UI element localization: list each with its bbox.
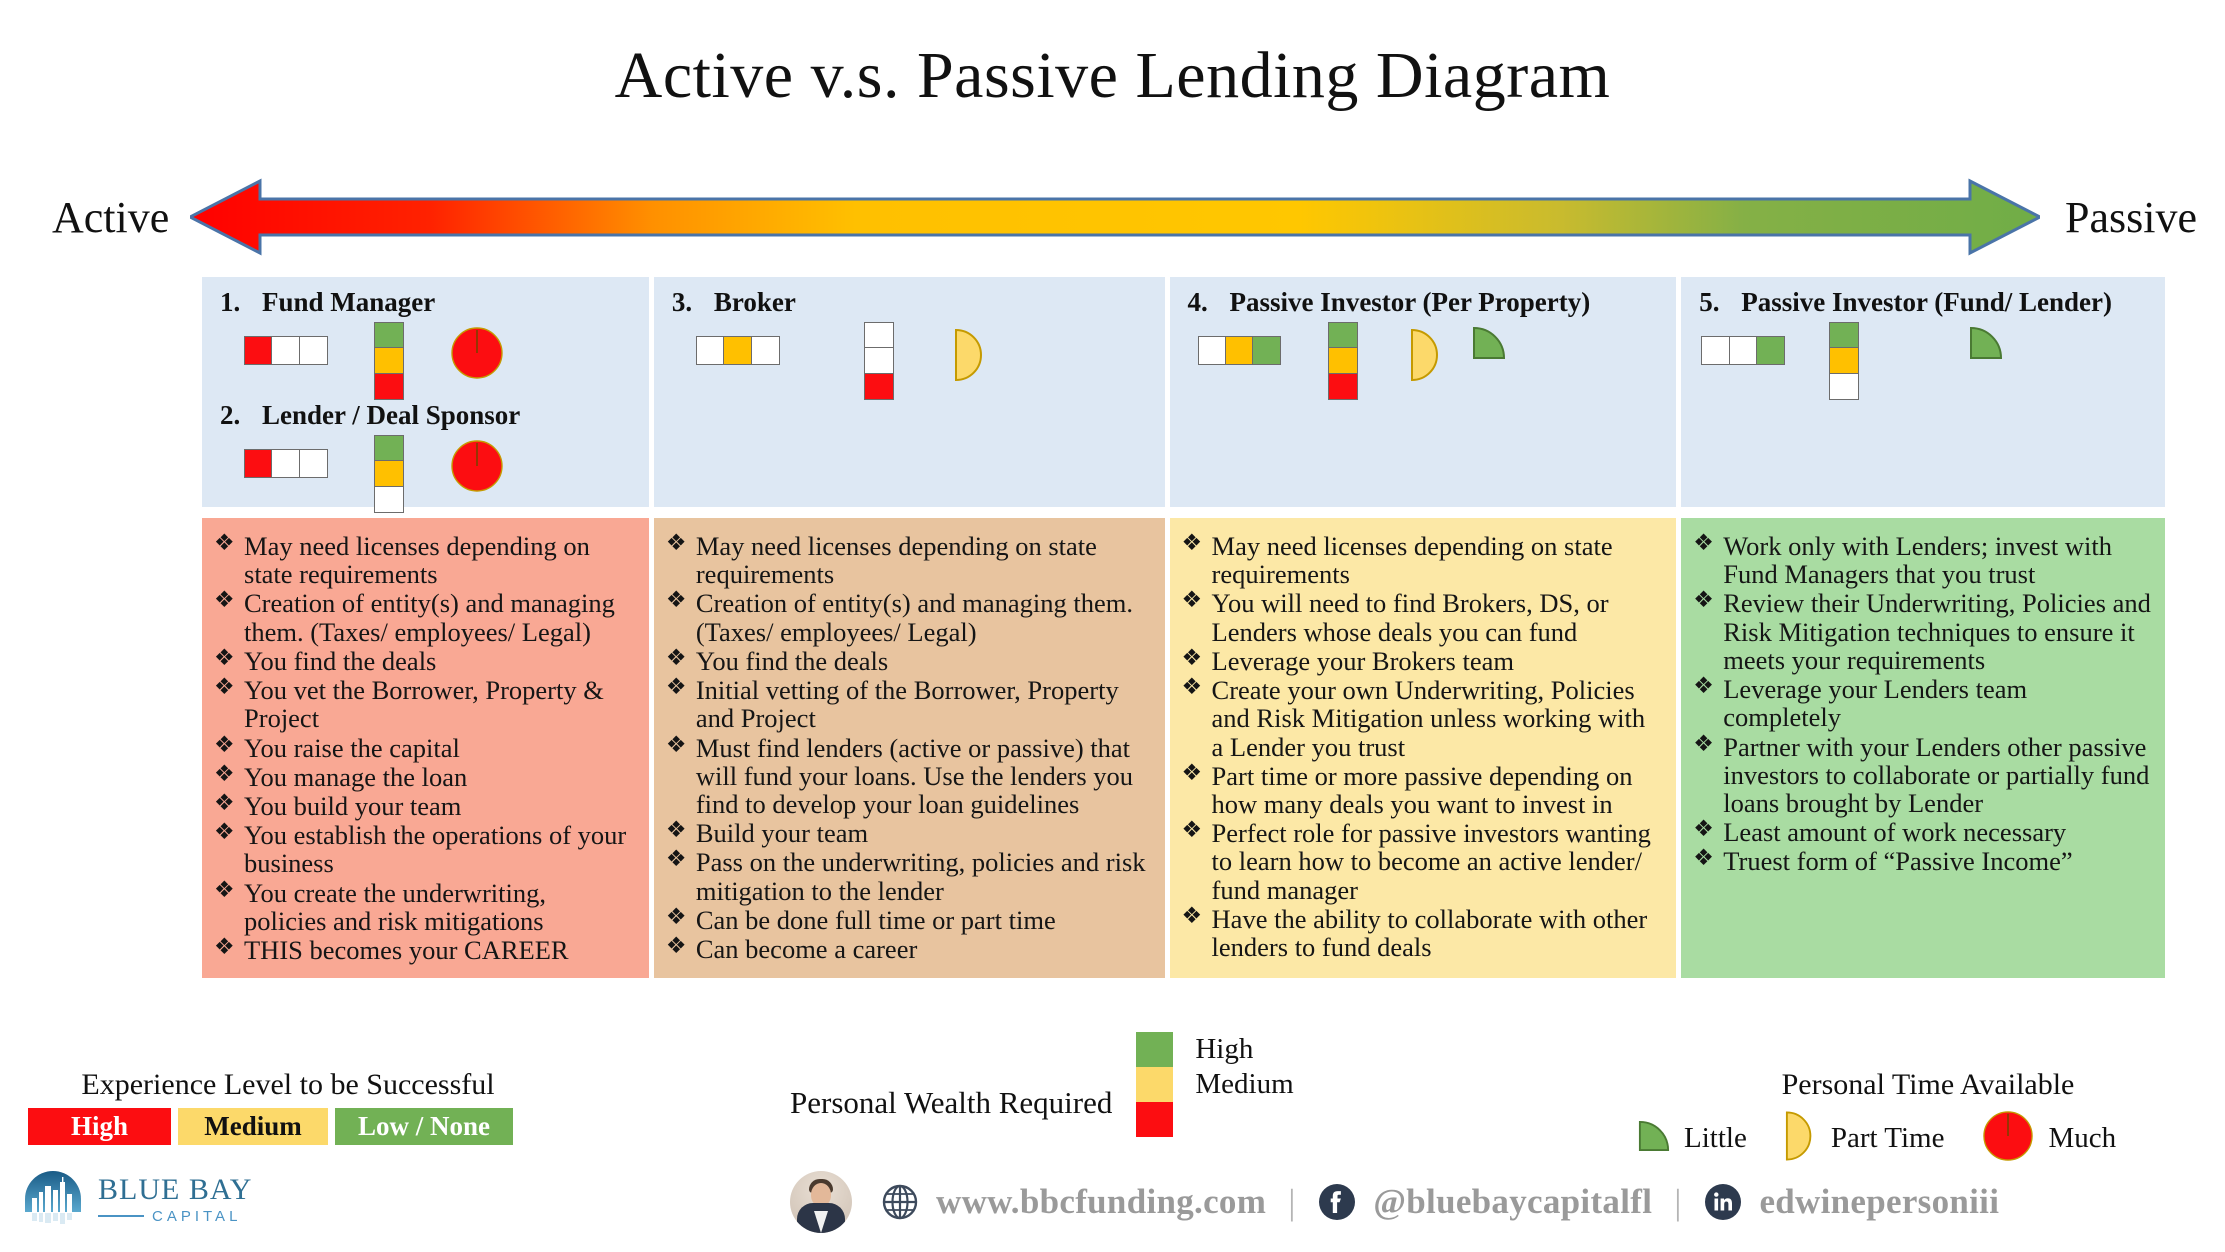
personal-time-part-icon bbox=[1410, 328, 1444, 382]
role-header-passive-investor-fund-lender: 5. Passive Investor (Fund/ Lender) bbox=[1681, 287, 2165, 318]
list-item: You create the underwriting, policies an… bbox=[212, 879, 635, 935]
personal-time-little-icon bbox=[1472, 326, 1506, 360]
list-item: Can become a career bbox=[664, 935, 1151, 963]
facebook-icon bbox=[1317, 1182, 1357, 1222]
list-item: Leverage your Lenders team completely bbox=[1691, 675, 2151, 731]
detail-panel-passive-investor-fund-lender: Work only with Lenders; invest with Fund… bbox=[1681, 518, 2165, 978]
role-number: 1. bbox=[220, 287, 262, 318]
logo-line-2: CAPITAL bbox=[152, 1209, 241, 1224]
list-item: You establish the operations of your bus… bbox=[212, 821, 635, 877]
website-link[interactable]: www.bbcfunding.com bbox=[936, 1182, 1266, 1222]
list-item: You find the deals bbox=[212, 647, 635, 675]
legend-wealth-row-low bbox=[1136, 1102, 1293, 1137]
logo-line-1: BLUE BAY bbox=[98, 1173, 252, 1206]
full-circle-icon bbox=[1982, 1110, 2034, 1167]
role-panel-column-4: 5. Passive Investor (Fund/ Lender) bbox=[1681, 277, 2165, 507]
list-item: Initial vetting of the Borrower, Propert… bbox=[664, 676, 1151, 732]
role-icons-broker bbox=[654, 318, 1165, 408]
role-icons-passive-investor-fund-lender bbox=[1681, 318, 2165, 408]
facebook-handle[interactable]: @bluebaycapitalfl bbox=[1373, 1182, 1652, 1222]
legend-time-item-little: Little bbox=[1638, 1120, 1747, 1157]
list-item: Can be done full time or part time bbox=[664, 906, 1151, 934]
role-panels-row: 1. Fund Manager bbox=[202, 277, 2165, 507]
role-name-label: Fund Manager bbox=[262, 287, 435, 318]
logo-line-2-row: CAPITAL bbox=[98, 1209, 252, 1224]
legend-swatch-yellow bbox=[1136, 1067, 1173, 1102]
gradient-double-arrow-icon bbox=[190, 178, 2040, 256]
list-item: Part time or more passive depending on h… bbox=[1180, 762, 1663, 818]
bullet-list: Work only with Lenders; invest with Fund… bbox=[1691, 532, 2151, 876]
linkedin-handle[interactable]: edwinepersoniii bbox=[1759, 1182, 1999, 1222]
role-name-label: Passive Investor (Per Property) bbox=[1230, 287, 1591, 318]
role-number: 5. bbox=[1699, 287, 1741, 318]
experience-level-icon bbox=[696, 336, 780, 365]
legend-label-high: High bbox=[1195, 1033, 1253, 1066]
personal-time-little-icon bbox=[1969, 326, 2003, 360]
role-icons-passive-investor-per-property bbox=[1170, 318, 1677, 408]
role-panel-column-1: 1. Fund Manager bbox=[202, 277, 649, 507]
list-item: Create your own Underwriting, Policies a… bbox=[1180, 676, 1663, 761]
legend-time-items: Little Part Time Much bbox=[1638, 1110, 2218, 1167]
skyline-circle-icon bbox=[22, 1168, 84, 1230]
active-passive-spectrum: Active Passive bbox=[0, 178, 2225, 258]
list-item: Perfect role for passive investors wanti… bbox=[1180, 819, 1663, 904]
spectrum-label-passive: Passive bbox=[2065, 192, 2197, 243]
list-item: May need licenses depending on state req… bbox=[664, 532, 1151, 588]
bullet-list: May need licenses depending on state req… bbox=[212, 532, 635, 964]
avatar bbox=[790, 1171, 852, 1233]
list-item: Creation of entity(s) and managing them.… bbox=[664, 589, 1151, 645]
diagram-page: Active v.s. Passive Lending Diagram Acti… bbox=[0, 0, 2225, 1252]
list-item: Must find lenders (active or passive) th… bbox=[664, 734, 1151, 819]
list-item: You raise the capital bbox=[212, 734, 635, 762]
legend-time-item-part-time: Part Time bbox=[1785, 1110, 1945, 1167]
spectrum-label-active: Active bbox=[52, 192, 169, 243]
list-item: You find the deals bbox=[664, 647, 1151, 675]
list-item: Least amount of work necessary bbox=[1691, 818, 2151, 846]
legend-personal-time: Personal Time Available Little Part Time bbox=[1638, 1068, 2218, 1167]
legend-label-medium: Medium bbox=[1195, 1068, 1293, 1101]
list-item: THIS becomes your CAREER bbox=[212, 936, 635, 964]
legend-label-little: Little bbox=[1684, 1122, 1747, 1155]
legend-wealth-row-high: High bbox=[1136, 1032, 1293, 1067]
list-item: May need licenses depending on state req… bbox=[1180, 532, 1663, 588]
legend-wealth-stack: High Medium bbox=[1136, 1032, 1293, 1137]
personal-wealth-icon bbox=[1328, 322, 1358, 400]
detail-panels-row: May need licenses depending on state req… bbox=[202, 518, 2165, 978]
legend-personal-wealth: Personal Wealth Required High Medium bbox=[790, 1050, 1294, 1155]
role-number: 4. bbox=[1188, 287, 1230, 318]
experience-level-icon bbox=[1701, 336, 1785, 365]
detail-panel-broker: May need licenses depending on state req… bbox=[654, 518, 1165, 978]
role-panel-column-3: 4. Passive Investor (Per Property) bbox=[1170, 277, 1677, 507]
role-panel-column-2: 3. Broker bbox=[654, 277, 1165, 507]
list-item: You vet the Borrower, Property & Project bbox=[212, 676, 635, 732]
legend-swatch-red bbox=[1136, 1102, 1173, 1137]
legend-swatch-high: High bbox=[28, 1108, 171, 1145]
personal-wealth-icon bbox=[374, 435, 404, 513]
personal-wealth-icon bbox=[374, 322, 404, 400]
list-item: Work only with Lenders; invest with Fund… bbox=[1691, 532, 2151, 588]
legend-swatch-green bbox=[1136, 1032, 1173, 1067]
blue-bay-capital-logo: BLUE BAY CAPITAL bbox=[22, 1168, 252, 1230]
quarter-circle-icon bbox=[1638, 1120, 1670, 1157]
role-icons-lender-deal-sponsor bbox=[202, 431, 649, 521]
role-icons-fund-manager bbox=[202, 318, 649, 408]
list-item: Review their Underwriting, Policies and … bbox=[1691, 589, 2151, 674]
legend-caption: Personal Wealth Required bbox=[790, 1085, 1112, 1121]
list-item: May need licenses depending on state req… bbox=[212, 532, 635, 588]
detail-panel-passive-investor-per-property: May need licenses depending on state req… bbox=[1170, 518, 1677, 978]
role-header-broker: 3. Broker bbox=[654, 287, 1165, 318]
role-name-label: Passive Investor (Fund/ Lender) bbox=[1741, 287, 2112, 318]
role-header-passive-investor-per-property: 4. Passive Investor (Per Property) bbox=[1170, 287, 1677, 318]
list-item: You manage the loan bbox=[212, 763, 635, 791]
list-item: Pass on the underwriting, policies and r… bbox=[664, 848, 1151, 904]
footer-linkedin-group[interactable]: edwinepersoniii bbox=[1703, 1182, 1999, 1222]
personal-time-much-icon bbox=[450, 439, 504, 493]
footer-separator-1: | bbox=[1288, 1181, 1295, 1223]
legend-swatch-medium: Medium bbox=[178, 1108, 328, 1145]
personal-time-part-icon bbox=[954, 328, 988, 382]
half-circle-icon bbox=[1785, 1110, 1817, 1167]
legend-caption: Personal Time Available bbox=[1638, 1068, 2218, 1102]
list-item: Partner with your Lenders other passive … bbox=[1691, 733, 2151, 818]
linkedin-icon bbox=[1703, 1182, 1743, 1222]
globe-icon bbox=[880, 1182, 920, 1222]
list-item: You build your team bbox=[212, 792, 635, 820]
list-item: You will need to find Brokers, DS, or Le… bbox=[1180, 589, 1663, 645]
experience-level-icon bbox=[244, 336, 328, 365]
list-item: Truest form of “Passive Income” bbox=[1691, 847, 2151, 875]
legend-experience-level: Experience Level to be Successful High M… bbox=[28, 1068, 548, 1145]
legend-wealth-row-medium: Medium bbox=[1136, 1067, 1293, 1102]
experience-level-icon bbox=[1198, 336, 1282, 365]
list-item: Leverage your Brokers team bbox=[1180, 647, 1663, 675]
legend-time-item-much: Much bbox=[1982, 1110, 2116, 1167]
legend-label-part-time: Part Time bbox=[1831, 1122, 1945, 1155]
role-name-label: Broker bbox=[714, 287, 796, 318]
list-item: Build your team bbox=[664, 819, 1151, 847]
personal-time-much-icon bbox=[450, 326, 504, 380]
list-item: Creation of entity(s) and managing them.… bbox=[212, 589, 635, 645]
page-title: Active v.s. Passive Lending Diagram bbox=[0, 38, 2225, 114]
legend-label-much: Much bbox=[2048, 1122, 2116, 1155]
legend-swatch-low-none: Low / None bbox=[335, 1108, 513, 1145]
role-number: 3. bbox=[672, 287, 714, 318]
role-header-fund-manager: 1. Fund Manager bbox=[202, 287, 649, 318]
legend-caption: Experience Level to be Successful bbox=[28, 1068, 548, 1102]
list-item: Have the ability to collaborate with oth… bbox=[1180, 905, 1663, 961]
footer-contact-bar: www.bbcfunding.com | @bluebaycapitalfl | bbox=[790, 1163, 1999, 1241]
detail-panel-fund-manager: May need licenses depending on state req… bbox=[202, 518, 649, 978]
footer-website-group[interactable]: www.bbcfunding.com bbox=[880, 1182, 1266, 1222]
personal-wealth-icon bbox=[1829, 322, 1859, 400]
logo-rule bbox=[98, 1215, 144, 1217]
footer-separator-2: | bbox=[1674, 1181, 1681, 1223]
experience-level-icon bbox=[244, 449, 328, 478]
personal-wealth-icon bbox=[864, 322, 894, 400]
logo-wordmark: BLUE BAY CAPITAL bbox=[98, 1175, 252, 1224]
footer-facebook-group[interactable]: @bluebaycapitalfl bbox=[1317, 1182, 1652, 1222]
bullet-list: May need licenses depending on state req… bbox=[1180, 532, 1663, 961]
legend-bars: High Medium Low / None bbox=[28, 1108, 548, 1145]
bullet-list: May need licenses depending on state req… bbox=[664, 532, 1151, 963]
